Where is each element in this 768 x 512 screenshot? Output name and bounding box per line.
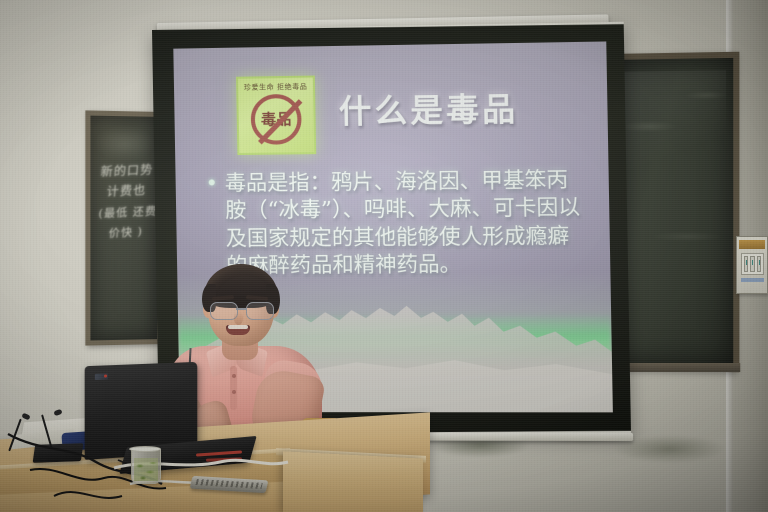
chalk-line-1: 新的口势 [100,162,154,182]
blackboard-scuff [613,58,733,366]
panel-label-strip [741,278,764,282]
panel-wood-top [739,240,765,249]
cup-rim [129,446,161,452]
chalk-line-4: 价快 ) [108,224,143,242]
screenshot-root: 新的口势 计费也 (最低 还费 价快 ) [0,0,768,512]
logo-caption: 珍爱生命 拒绝毒品 [244,82,308,93]
breaker-switch [757,256,761,272]
remote-buttons[interactable] [195,479,262,489]
nose [234,312,243,325]
thinkpad-logo-icon [95,373,108,380]
blackboard-left: 新的口势 计费也 (最低 还费 价快 ) [85,110,164,345]
bullet-marker-icon [209,179,215,185]
lens-right [246,302,274,320]
tea-cup [131,448,161,484]
tea-leaves [134,458,158,481]
podium [283,451,423,512]
chalk-line-3: (最低 还费 [98,203,158,222]
chalk-smudge [95,126,155,161]
prohibition-icon: 毒品 [250,94,301,145]
chalk-line-2: 计费也 [106,182,147,201]
breaker-switch [750,256,754,272]
breaker-switch [744,256,748,272]
teeth [228,325,248,329]
anti-drug-logo: 珍爱生命 拒绝毒品 毒品 [236,76,316,156]
panel-breaker-row [741,253,764,275]
electrical-panel [736,236,768,294]
glasses-bridge [236,308,246,310]
black-equipment-box [33,443,84,463]
slide-title: 什么是毒品 [338,84,518,133]
